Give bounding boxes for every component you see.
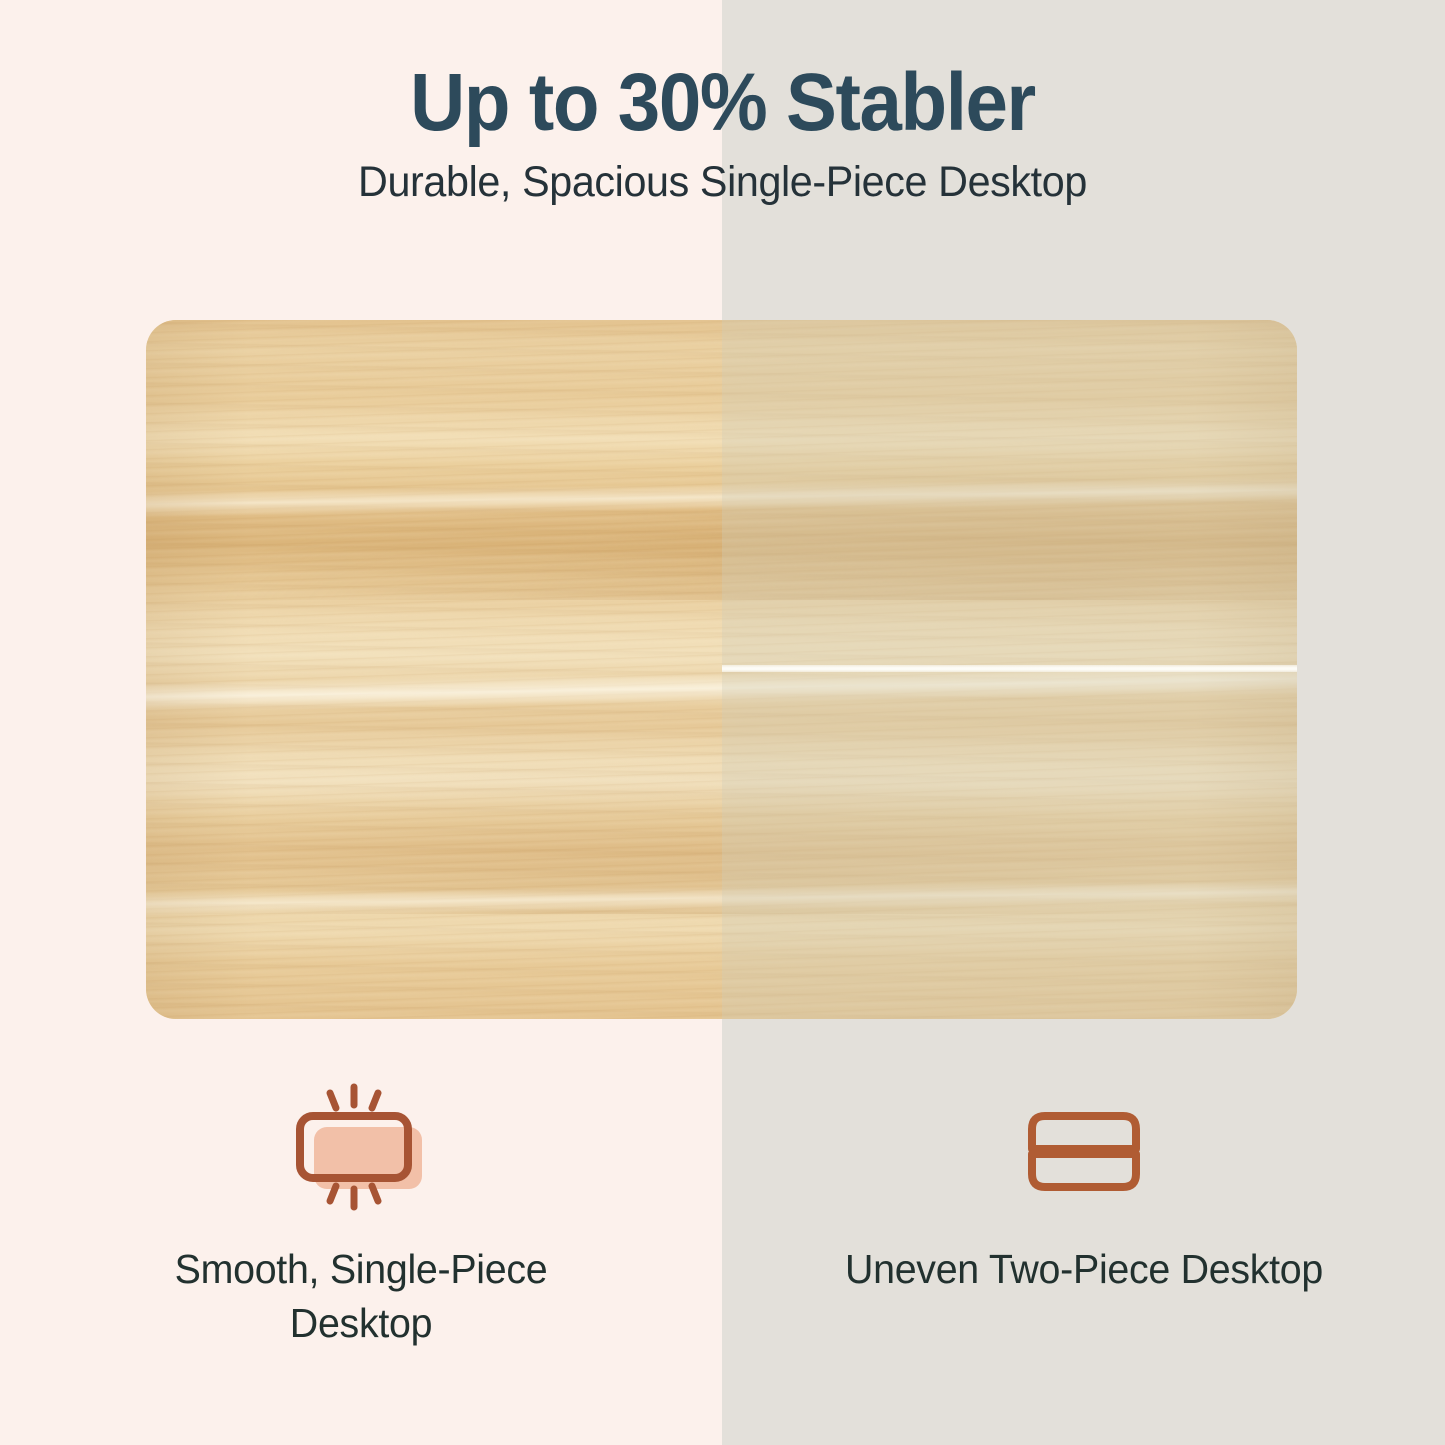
comparison-column-two-piece: Uneven Two-Piece Desktop: [722, 1070, 1445, 1400]
single-piece-icon-slot: [286, 1070, 436, 1220]
promo-graphic: Up to 30% Stabler Durable, Spacious Sing…: [0, 0, 1445, 1445]
comparison-column-single-piece: Smooth, Single-Piece Desktop: [0, 1070, 722, 1400]
page-title: Up to 30% Stabler: [51, 60, 1395, 145]
two-piece-label: Uneven Two-Piece Desktop: [844, 1242, 1322, 1296]
single-piece-desktop-icon: [286, 1075, 436, 1215]
desktop-seam-line: [722, 665, 1297, 672]
two-piece-desktop-icon: [1009, 1075, 1159, 1215]
wood-desktop-surface: [146, 320, 1297, 1019]
two-piece-icon-slot: [1009, 1070, 1159, 1220]
comparison-row: Smooth, Single-Piece Desktop Uneven Two-…: [0, 1070, 1445, 1400]
header-block: Up to 30% Stabler Durable, Spacious Sing…: [0, 60, 1445, 207]
single-piece-label: Smooth, Single-Piece Desktop: [111, 1242, 610, 1350]
page-subtitle: Durable, Spacious Single-Piece Desktop: [29, 159, 1416, 206]
